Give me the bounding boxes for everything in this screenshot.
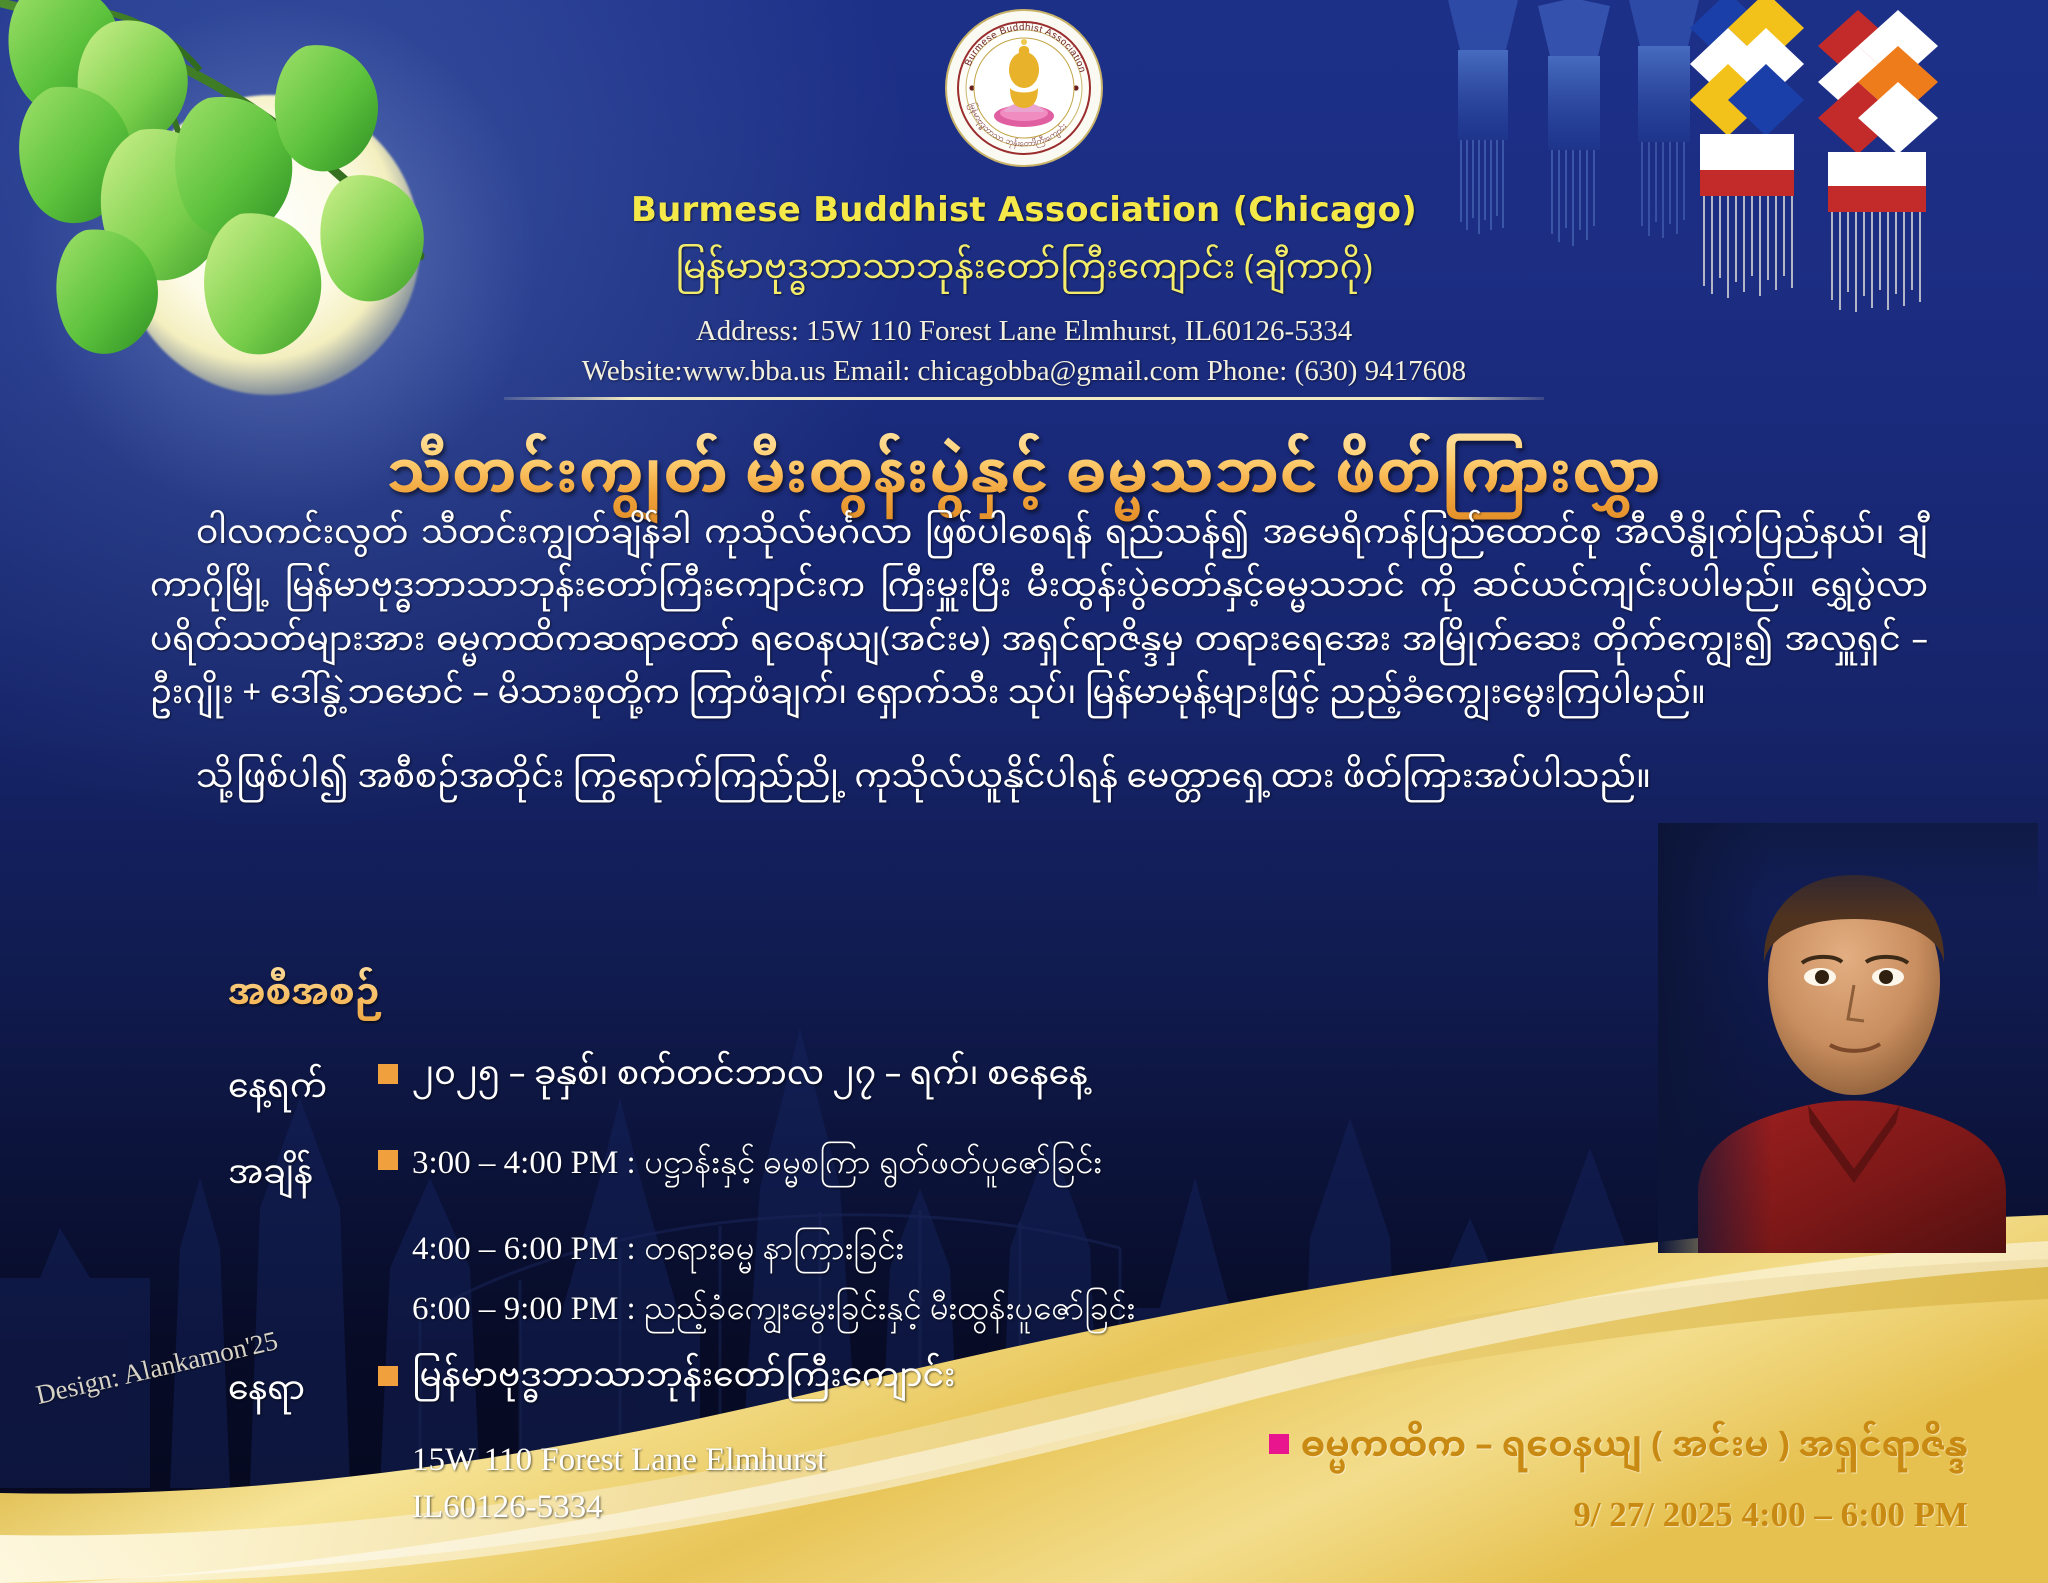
square-bullet-icon [378, 1366, 398, 1386]
time-value-1: 3:00 – 4:00 PM : ပဋ္ဌာန်းနှင့် ဓမ္မစကြာ … [412, 1140, 1102, 1188]
association-seal-logo: Burmese Buddhist Association မြန်မာဗုဒ္ဓ… [944, 8, 1104, 168]
square-bullet-icon [378, 1064, 398, 1084]
programme-section: အစီအစဉ် နေ့ရက် ၂၀၂၅ – ခုနှစ်၊ စက်တင်ဘာလ … [228, 955, 1428, 1526]
organization-address: Address: 15W 110 Forest Lane Elmhurst, I… [0, 315, 2048, 348]
programme-row-date: နေ့ရက် ၂၀၂၅ – ခုနှစ်၊ စက်တင်ဘာလ ၂၇ – ရက်… [228, 1054, 1428, 1126]
footer-speaker-block: ဓမ္မကထိက – ရဝေနယျ ( အင်းမ ) အရှင်ရာဇိန္ဒ… [1269, 1411, 1968, 1535]
date-value: ၂၀၂၅ – ခုနှစ်၊ စက်တင်ဘာလ ၂၇ – ရက်၊ စနေနေ… [412, 1054, 1088, 1102]
venue-label: နေရာ [228, 1356, 378, 1428]
poster-body: ဝါလကင်းလွတ် သီတင်းကျွတ်ချိန်ခါ ကုသိုလ်မင… [150, 510, 1928, 807]
programme-row-time: အချိန် 3:00 – 4:00 PM : ပဋ္ဌာန်းနှင့် ဓမ… [228, 1140, 1428, 1212]
footer-speaker-name: ဓမ္မကထိက – ရဝေနယျ ( အင်းမ ) အရှင်ရာဇိန္ဒ [1301, 1411, 1968, 1487]
square-bullet-icon [378, 1150, 398, 1170]
footer-speaker-row: ဓမ္မကထိက – ရဝေနယျ ( အင်းမ ) အရှင်ရာဇိန္ဒ [1269, 1411, 1968, 1487]
monk-portrait-photo [1658, 823, 2038, 1253]
square-bullet-icon [1269, 1434, 1289, 1454]
body-paragraph-1: ဝါလကင်းလွတ် သီတင်းကျွတ်ချိန်ခါ ကုသိုလ်မင… [150, 510, 1928, 724]
header-divider [504, 397, 1544, 400]
organization-name-english: Burmese Buddhist Association (Chicago) [0, 190, 2048, 230]
body-paragraph-2: သို့ဖြစ်ပါ၍ အစီစဉ်အတိုင်း ကြွရောက်ကြည်ညိ… [150, 754, 1928, 807]
footer-datetime: 9/ 27/ 2025 4:00 – 6:00 PM [1269, 1495, 1968, 1535]
programme-row-venue: နေရာ မြန်မာဗုဒ္ဓဘာသာဘုန်းတော်ကြီးကျောင်း [228, 1356, 1428, 1428]
programme-heading: အစီအစဉ် [228, 955, 1428, 1036]
organization-contact: Website:www.bba.us Email: chicagobba@gma… [0, 355, 2048, 388]
organization-name-burmese: မြန်မာဗုဒ္ဓဘာသာဘုန်းတော်ကြီးကျောင်း (ချီ… [0, 234, 2048, 308]
poster-header: Burmese Buddhist Association (Chicago) မ… [0, 190, 2048, 400]
event-poster: Burmese Buddhist Association မြန်မာဗုဒ္ဓ… [0, 0, 2048, 1583]
venue-name: မြန်မာဗုဒ္ဓဘာသာဘုန်းတော်ကြီးကျောင်း [412, 1356, 955, 1404]
time-value-2: 4:00 – 6:00 PM : တရားဓမ္မ နာကြားခြင်း [412, 1226, 1428, 1274]
time-value-3: 6:00 – 9:00 PM : ညည့်ခံကျွေးမွေးခြင်းနှင… [412, 1286, 1428, 1334]
date-label: နေ့ရက် [228, 1054, 378, 1126]
time-label: အချိန် [228, 1140, 378, 1212]
